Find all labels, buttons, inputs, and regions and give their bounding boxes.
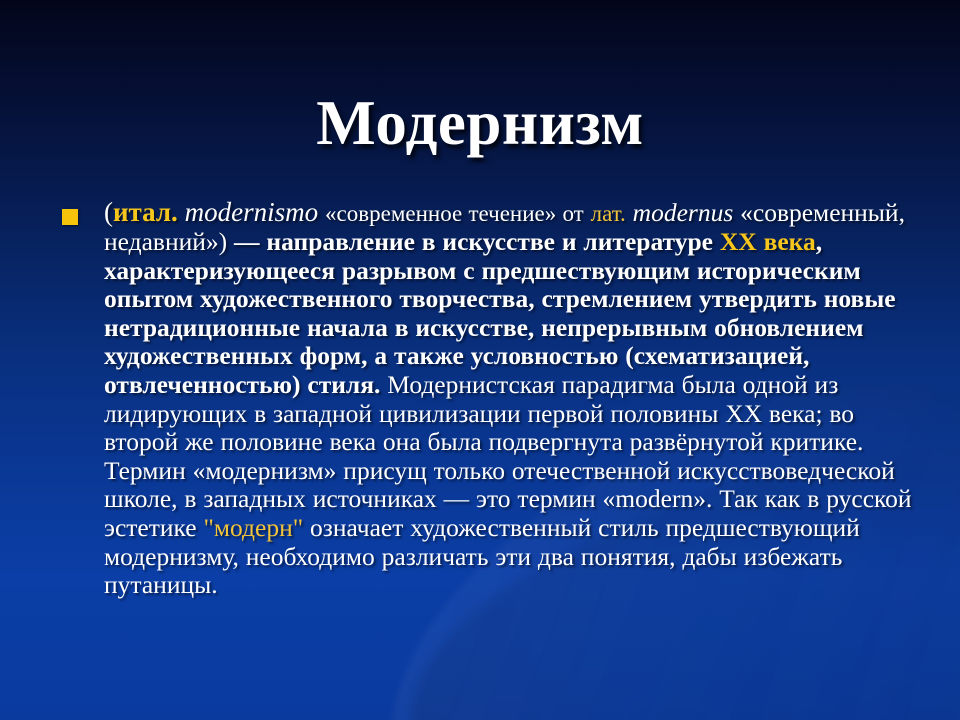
term-modernismo: modernismo (185, 197, 319, 227)
page-title: Модернизм (0, 90, 960, 156)
slide: Модернизм (итал. modernismo «современное… (0, 0, 960, 720)
italian-language-label: итал. (113, 197, 178, 227)
century-highlight: XX века (720, 227, 816, 256)
modern-quoted-highlight: "модерн" (203, 513, 303, 542)
list-item: (итал. modernismo «современное течение» … (58, 198, 928, 600)
square-bullet-icon (62, 209, 78, 225)
em-dash: — (234, 227, 260, 256)
open-paren: ( (104, 197, 113, 227)
definition-lead: направление в искусстве и литературе (266, 227, 713, 256)
content-body: (итал. modernismo «современное течение» … (58, 172, 928, 625)
latin-language-label: лат. (591, 201, 626, 226)
gloss-modern-current: «современное течение» от (325, 201, 584, 226)
term-modernus: modernus (633, 198, 734, 227)
definition-paragraph: (итал. modernismo «современное течение» … (104, 198, 928, 600)
